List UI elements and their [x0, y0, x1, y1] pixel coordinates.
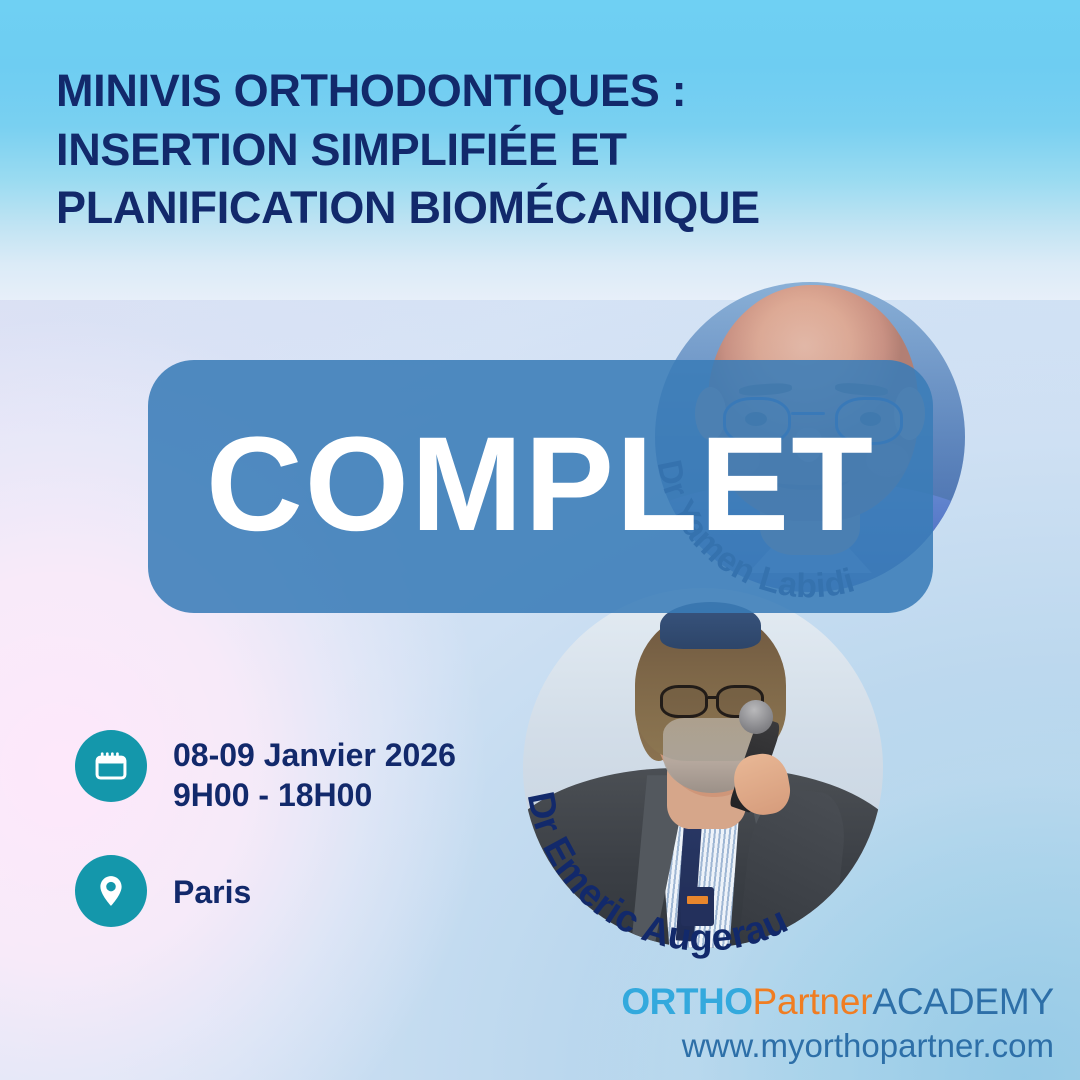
speaker-photo-emeric-augeraud [523, 588, 883, 948]
event-details: 08-09 Janvier 2026 9H00 - 18H00 Paris [75, 730, 456, 927]
portrait-glasses-bridge [708, 696, 719, 699]
event-date-row: 08-09 Janvier 2026 9H00 - 18H00 [75, 730, 456, 815]
title-line-1: MINIVIS ORTHODONTIQUES : [56, 62, 896, 121]
portrait-badge [681, 887, 713, 927]
location-pin-icon [75, 855, 147, 927]
title-line-3: PLANIFICATION BIOMÉCANIQUE [56, 179, 896, 238]
brand-logo-academy: ACADEMY [872, 981, 1054, 1022]
portrait-glasses-left [660, 685, 709, 717]
event-date-label: 08-09 Janvier 2026 9H00 - 18H00 [173, 730, 456, 815]
title-line-2: INSERTION SIMPLIFIÉE ET [56, 121, 896, 180]
status-badge: COMPLET [148, 360, 933, 613]
status-badge-label: COMPLET [206, 418, 875, 552]
event-poster: MINIVIS ORTHODONTIQUES : INSERTION SIMPL… [0, 0, 1080, 1080]
brand-logo-ortho: ORTHO [621, 981, 752, 1022]
brand-logo-wordmark: ORTHOPartnerACADEMY [621, 982, 1054, 1021]
page-title: MINIVIS ORTHODONTIQUES : INSERTION SIMPL… [56, 62, 896, 238]
event-location-row: Paris [75, 855, 456, 927]
event-location-label: Paris [173, 855, 251, 913]
website-url[interactable]: www.myorthopartner.com [621, 1026, 1054, 1066]
calendar-icon [75, 730, 147, 802]
brand-logo-partner: Partner [752, 981, 872, 1022]
brand-logo: ORTHOPartnerACADEMY www.myorthopartner.c… [621, 982, 1054, 1066]
